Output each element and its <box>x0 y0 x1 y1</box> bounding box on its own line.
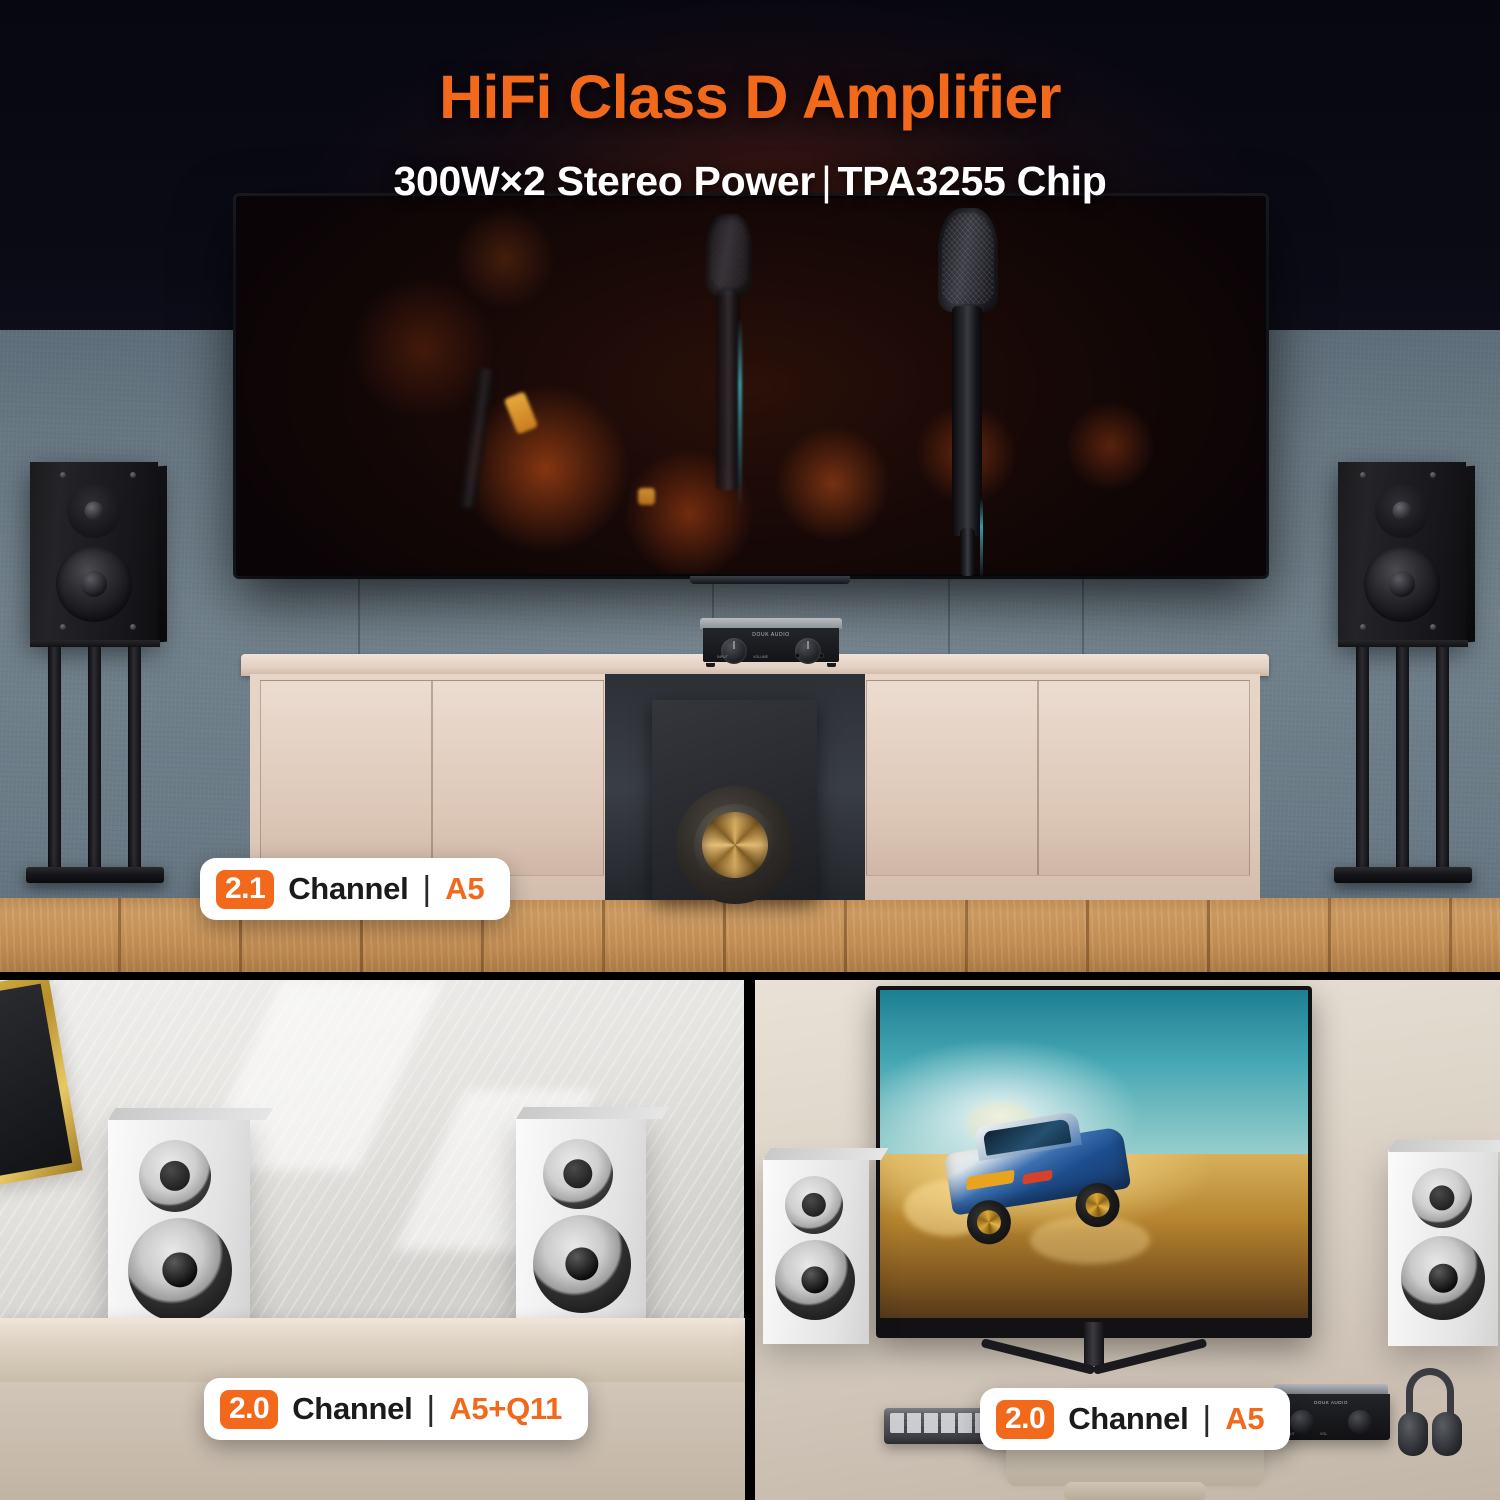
badge-channel-2-1: 2.1 Channel | A5 <box>200 858 510 920</box>
subtitle-power: 300W×2 Stereo Power <box>394 158 816 204</box>
computer-monitor <box>876 986 1312 1338</box>
television <box>236 196 1266 576</box>
headphones <box>1394 1368 1466 1460</box>
subwoofer <box>652 700 817 900</box>
badge-channel-label: Channel <box>288 871 408 907</box>
amp-brand-label: DOUK AUDIO <box>752 632 789 638</box>
bl-right-white-speaker <box>516 1117 646 1342</box>
badge-divider: | <box>1202 1400 1211 1439</box>
product-marketing-image: DOUK AUDIO INPUT VOLUME <box>0 0 1500 1500</box>
page-subtitle: 300W×2 Stereo Power|TPA3255 Chip <box>0 158 1500 205</box>
badge-chip-channel-number: 2.0 <box>220 1390 278 1429</box>
badge-channel-2-0-a5: 2.0 Channel | A5 <box>980 1388 1290 1450</box>
amp-volume-label: VOLUME <box>753 655 768 659</box>
badge-chip-channel-number: 2.1 <box>216 870 274 909</box>
br-amp-brand: DOUK AUDIO <box>1314 1400 1348 1405</box>
bl-left-white-speaker <box>108 1118 250 1342</box>
badge-divider: | <box>422 870 431 909</box>
tv-mount-bar <box>690 576 850 584</box>
tv-screen-concert-scene <box>238 198 1264 574</box>
badge-model-name: A5 <box>445 871 484 907</box>
badge-chip-channel-number: 2.0 <box>996 1400 1054 1439</box>
amp-input-label: INPUT <box>717 655 728 659</box>
page-title: HiFi Class D Amplifier <box>0 62 1500 132</box>
badge-channel-label: Channel <box>292 1391 412 1427</box>
panel-divider-vertical <box>744 972 755 1500</box>
badge-divider: | <box>426 1390 435 1429</box>
br-right-desk-speaker <box>1388 1150 1498 1346</box>
br-left-desk-speaker <box>763 1158 869 1344</box>
subtitle-chip: TPA3255 Chip <box>837 158 1106 204</box>
badge-channel-label: Channel <box>1068 1401 1188 1437</box>
desk-surface <box>0 1318 745 1384</box>
hero-panel: DOUK AUDIO INPUT VOLUME <box>0 0 1500 972</box>
subtitle-divider: | <box>815 158 837 204</box>
monitor-screen-racing-game <box>880 990 1308 1318</box>
amplifier-device: DOUK AUDIO INPUT VOLUME <box>700 618 842 664</box>
badge-model-name: A5+Q11 <box>449 1391 562 1427</box>
subwoofer-gold-cone <box>702 812 768 878</box>
badge-channel-2-0-a5q11: 2.0 Channel | A5+Q11 <box>204 1378 588 1440</box>
badge-model-name: A5 <box>1225 1401 1264 1437</box>
